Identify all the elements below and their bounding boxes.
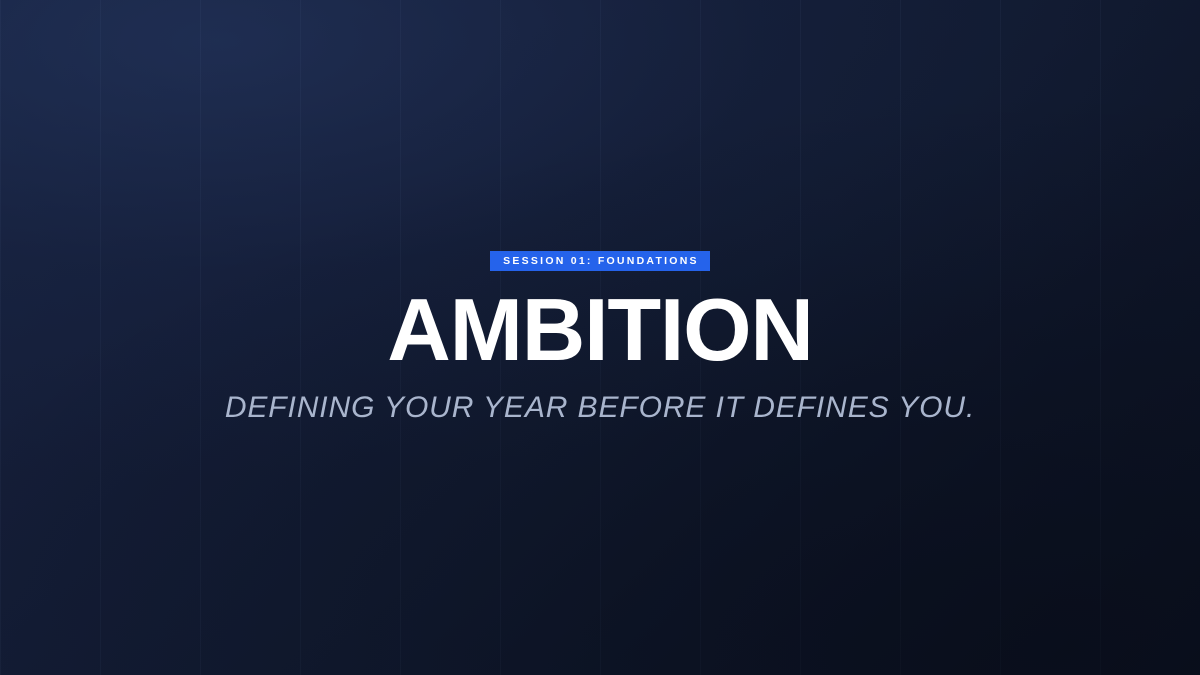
slide-content: SESSION 01: FOUNDATIONS AMBITION DEFININ… — [0, 0, 1200, 675]
slide-title: AMBITION — [387, 288, 812, 372]
session-badge: SESSION 01: FOUNDATIONS — [490, 251, 710, 272]
slide-subtitle: DEFINING YOUR YEAR BEFORE IT DEFINES YOU… — [225, 391, 975, 424]
title-slide: SESSION 01: FOUNDATIONS AMBITION DEFININ… — [0, 0, 1200, 675]
